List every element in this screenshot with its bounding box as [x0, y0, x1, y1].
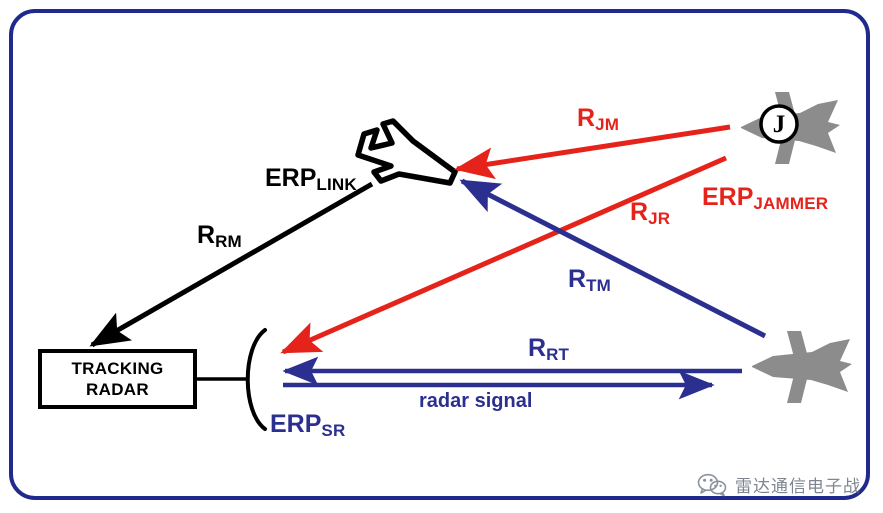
diagram-vector-layer — [0, 0, 883, 513]
watermark: 雷达通信电子战 — [697, 472, 861, 497]
label-erp-jammer: ERPJAMMER — [702, 185, 828, 210]
label-r-jm: RJM — [577, 106, 619, 131]
watermark-text: 雷达通信电子战 — [735, 472, 861, 497]
label-r-rt: RRT — [528, 336, 569, 361]
tracking-radar-label-line2: RADAR — [86, 380, 149, 400]
label-r-rm: RRM — [197, 223, 242, 248]
label-radar-signal: radar signal — [419, 391, 532, 411]
label-r-tm: RTM — [568, 267, 611, 292]
wechat-logo-icon — [697, 473, 727, 497]
target-aircraft-shape — [752, 331, 852, 403]
jammer-to-missile-line-rjm — [457, 127, 730, 169]
label-r-jr: RJR — [630, 200, 670, 225]
tracking-radar-label-group: TRACKING RADAR — [40, 351, 195, 407]
diagram-canvas: ERPLINK RRM RJM RJR ERPJAMMER RTM RRT ER… — [0, 0, 883, 513]
link-line-rrm — [92, 184, 372, 345]
radar-antenna-arc — [248, 330, 265, 429]
jammer-badge-letter: J — [761, 110, 797, 140]
label-erp-link: ERPLINK — [265, 166, 357, 191]
missile-shape — [358, 121, 455, 183]
tracking-radar-label-line1: TRACKING — [71, 359, 163, 379]
label-erp-sr: ERPSR — [270, 412, 345, 437]
